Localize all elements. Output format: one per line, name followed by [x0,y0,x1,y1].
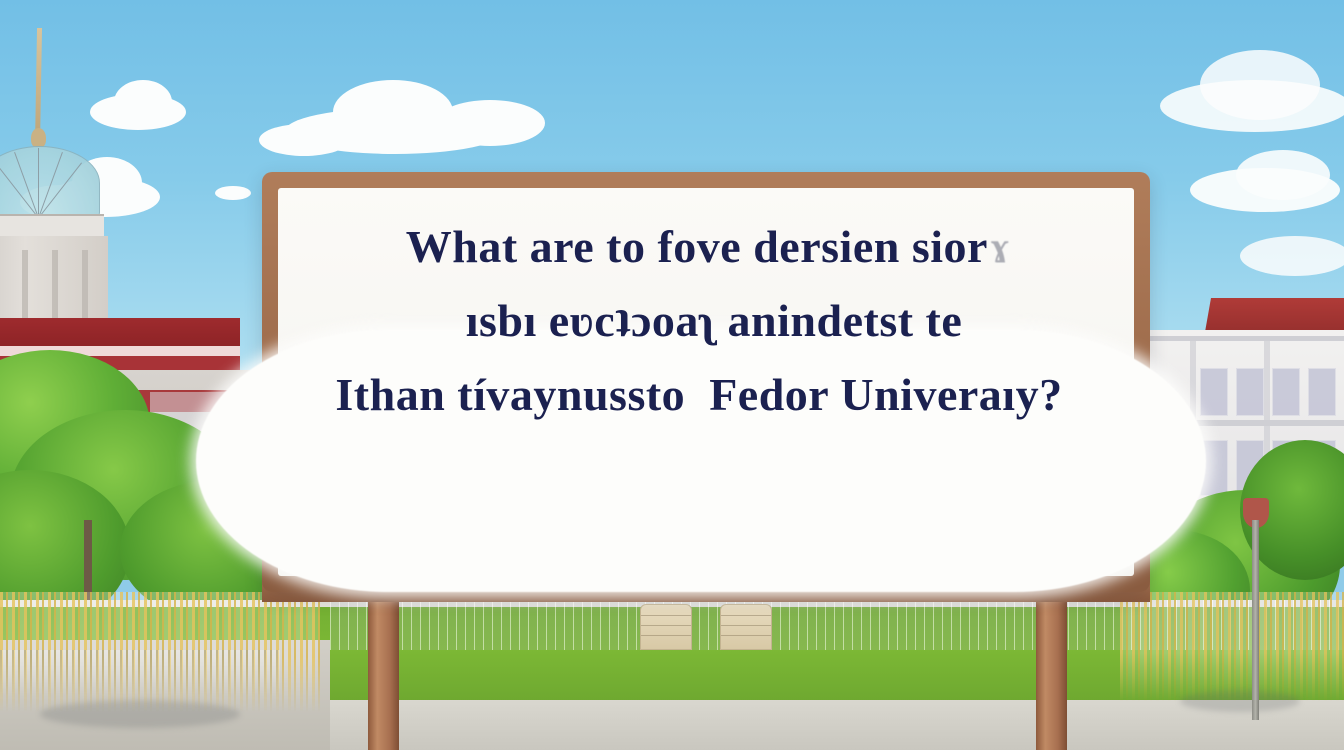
line1-smudge-glyph: ɤ [990,210,1009,284]
tower-finial [31,128,46,148]
right-building-window [1308,368,1336,416]
signboard-post-left [368,580,399,750]
line1-text: What are to fove dersien sior [406,221,988,272]
scene-stage: What are to fove dersien siorɤ ısbı eʋcʇ… [0,0,1344,750]
dome-rib [38,148,39,218]
right-building-window [1272,368,1300,416]
right-building-roof [1205,298,1344,332]
right-building-window [1200,368,1228,416]
line3-part2: Fedor Univeraıy [709,369,1039,420]
line3-part1: Ithan tívaynussto [335,369,685,420]
right-building-ledge [1130,336,1344,341]
right-building-window [1236,368,1264,416]
blue-streaks [0,650,280,695]
campus-gate [640,604,692,650]
signboard-text: What are to fove dersien siorɤ ısbı eʋcʇ… [262,210,1150,432]
signboard-text-line-3: Ithan tívaynussto Fedor Univeraıy? [248,358,1150,432]
campus-gate [720,604,772,650]
question-mark: ? [1039,369,1063,420]
fence-streaks-right [1120,592,1344,702]
street-lamp-pole [1252,520,1259,720]
left-building-roof [0,318,240,346]
signboard-text-line-2: ısbı eʋcʇɔoaʅ anindetst te [278,284,1150,358]
signboard-post-right [1036,580,1067,750]
signboard-text-line-1: What are to fove dersien siorɤ [268,210,1150,284]
